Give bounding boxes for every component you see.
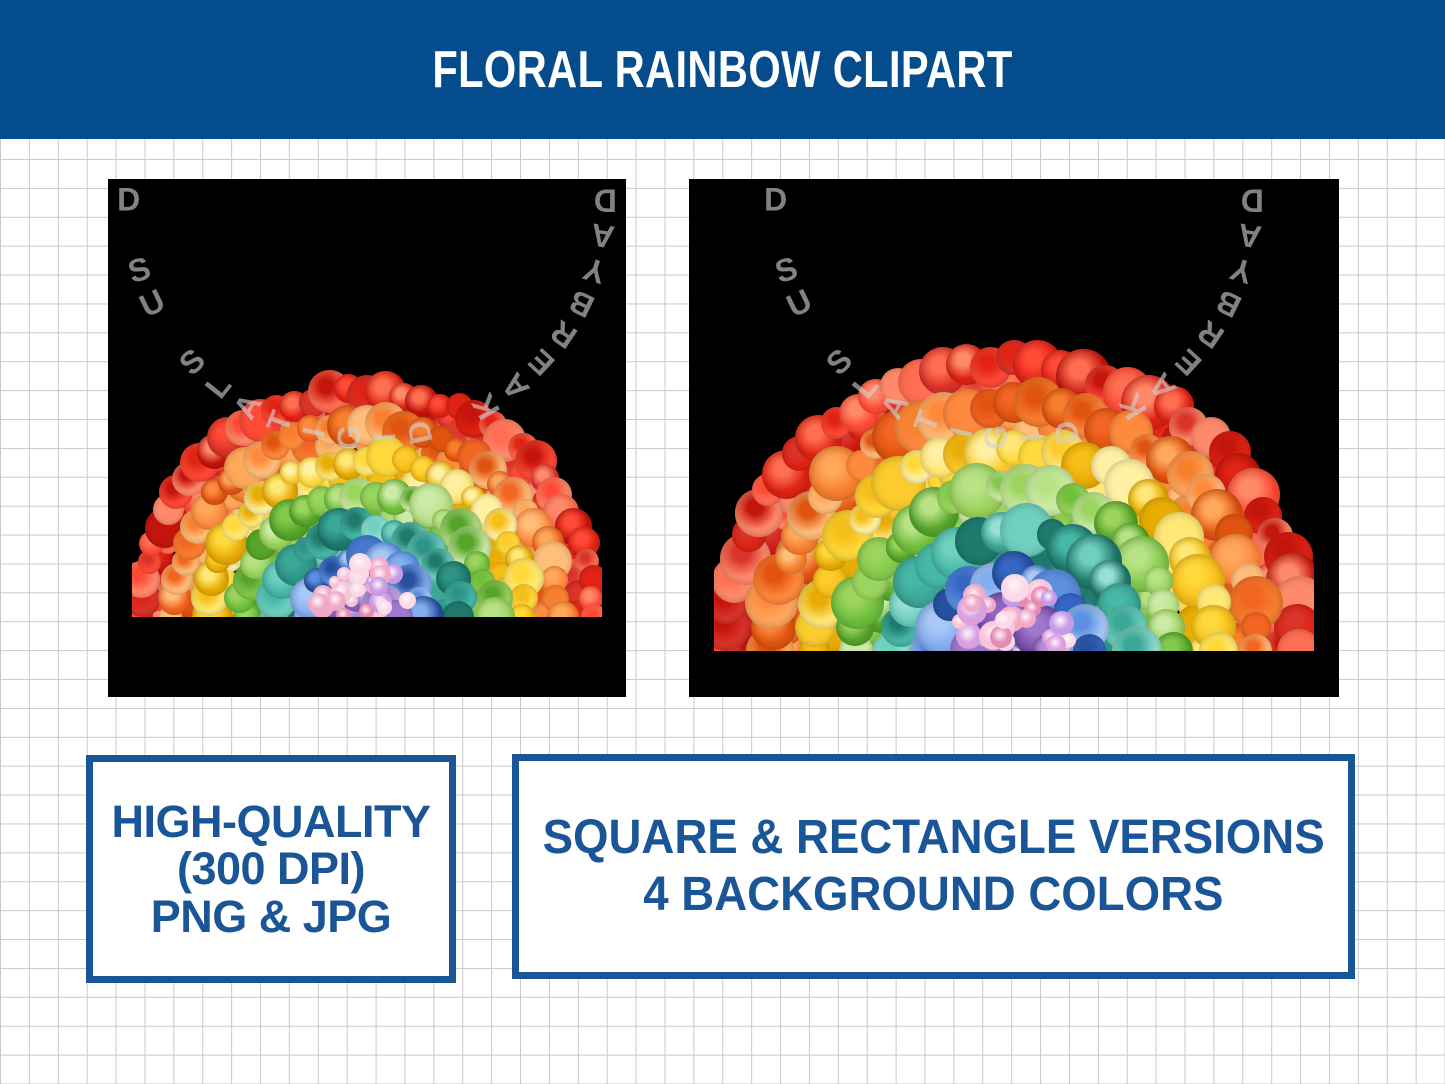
flower-blob-core <box>1046 635 1066 651</box>
flower-blob <box>581 604 602 617</box>
page-title: FLORAL RAINBOW CLIPART <box>145 0 1301 139</box>
watermark-letter: D <box>764 181 787 218</box>
watermark-letter: A <box>588 215 616 255</box>
quality-line-1: HIGH-QUALITY <box>112 798 431 845</box>
watermark-letter: Y <box>579 249 610 291</box>
watermark-letter: A <box>117 179 145 184</box>
floral-rainbow-arch-square <box>132 287 602 617</box>
flower-blob-core <box>990 626 1012 648</box>
arch-shape <box>132 287 602 617</box>
versions-line-2: 4 BACKGROUND COLORS <box>643 867 1223 924</box>
watermark-letter: S <box>124 249 155 291</box>
versions-line-1: SQUARE & RECTANGLE VERSIONS <box>542 810 1324 867</box>
flower-blob-core <box>359 604 374 617</box>
flower-blob-core <box>329 576 341 588</box>
header-bar: FLORAL RAINBOW CLIPART <box>0 0 1445 139</box>
flower-blob-core <box>369 577 388 596</box>
watermark-letter: D <box>1241 181 1264 218</box>
flower-blob-core <box>1041 590 1056 605</box>
feature-box-quality: HIGH-QUALITY (300 DPI) PNG & JPG <box>86 755 456 983</box>
quality-line-2: (300 DPI) <box>177 845 365 892</box>
preview-square-version[interactable]: DAYBREAKDIGITALSUSDAYBREAKDIGITALSUS <box>108 179 626 697</box>
flower-blob-core <box>995 611 1013 629</box>
arch-shape <box>714 231 1314 651</box>
watermark-letter: D <box>594 181 617 218</box>
feature-box-versions: SQUARE & RECTANGLE VERSIONS 4 BACKGROUND… <box>512 754 1355 979</box>
watermark-letter: D <box>117 181 140 218</box>
quality-line-3: PNG & JPG <box>151 893 392 940</box>
watermark-letter: A <box>764 179 792 184</box>
flower-blob-core <box>1017 609 1036 628</box>
flower-blob-core <box>349 553 371 575</box>
flower-blob-core <box>1001 574 1028 601</box>
preview-rectangle-version[interactable]: DAYBREAKDIGITALSUSDAYBREAKDIGITALSUS <box>689 179 1339 697</box>
floral-rainbow-arch-rectangle <box>714 231 1314 651</box>
